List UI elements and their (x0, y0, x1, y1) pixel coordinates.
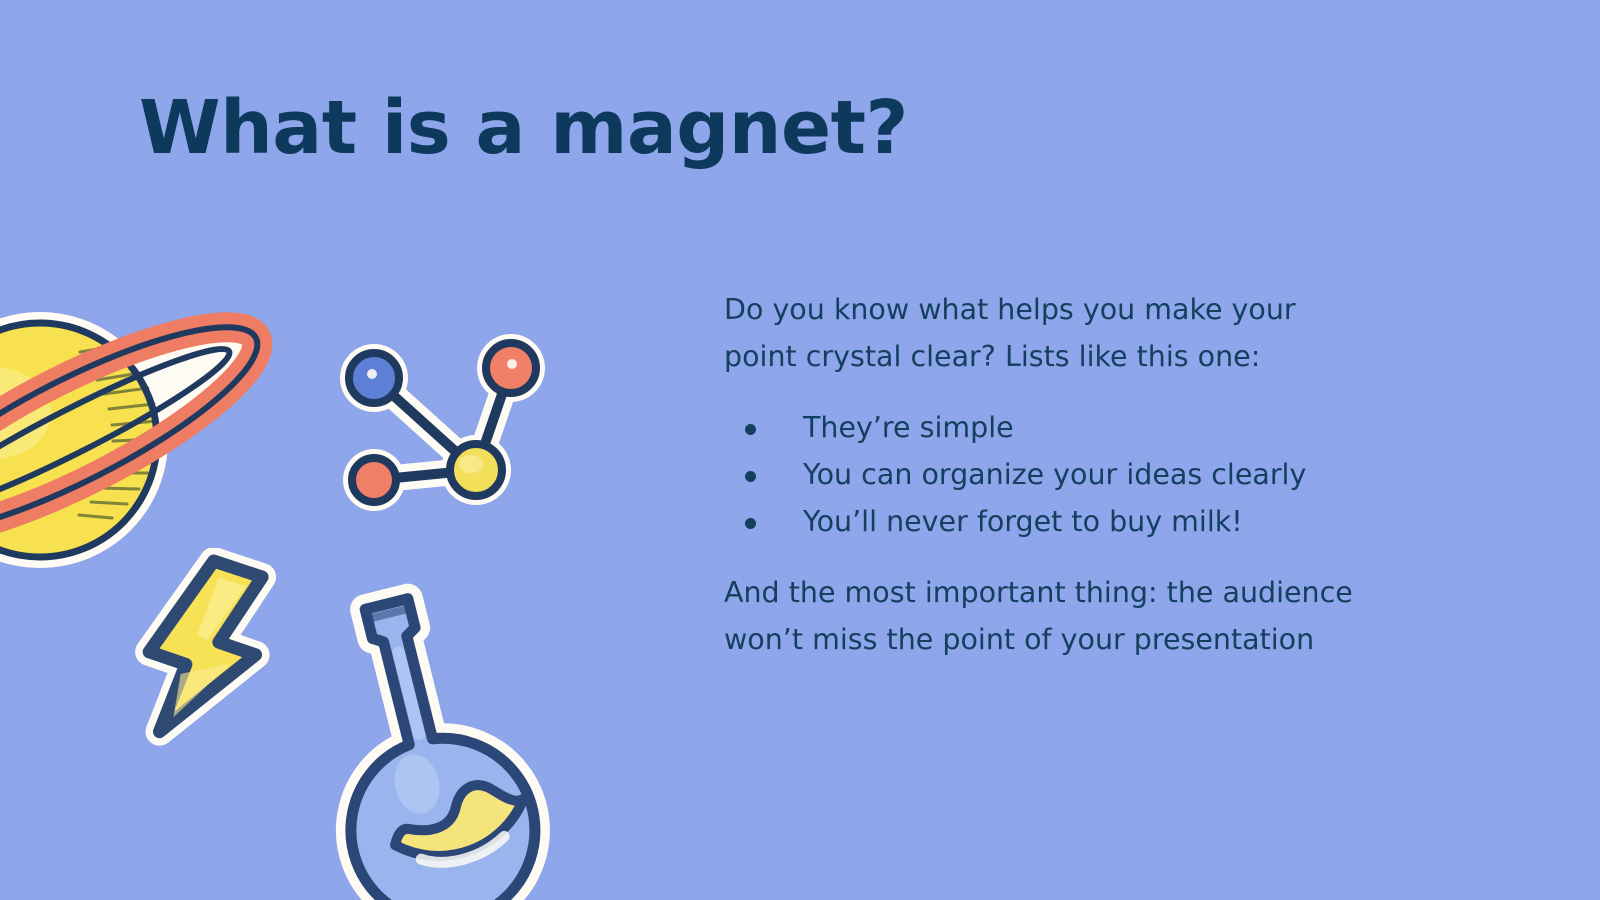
lightning-bolt-sticker (110, 548, 290, 748)
molecule-node-yellow-hub (450, 444, 502, 496)
body-text-column: Do you know what helps you make your poi… (724, 286, 1424, 663)
lead-paragraph: Do you know what helps you make your poi… (724, 286, 1369, 380)
molecule-node-blue (349, 353, 399, 403)
bullet-dot-icon (745, 518, 756, 529)
slide-canvas: What is a magnet? (0, 0, 1600, 900)
list-item: You can organize your ideas clearly (724, 451, 1424, 498)
molecule-node-coral-bottom (352, 458, 396, 502)
list-item: You’ll never forget to buy milk! (724, 498, 1424, 545)
list-item-label: You’ll never forget to buy milk! (803, 505, 1243, 538)
closing-paragraph: And the most important thing: the audien… (724, 569, 1369, 663)
list-item: They’re simple (724, 404, 1424, 451)
page-title: What is a magnet? (139, 86, 908, 170)
list-item-label: You can organize your ideas clearly (803, 458, 1306, 491)
bullet-dot-icon (745, 424, 756, 435)
saturn-planet-sticker (0, 280, 310, 580)
molecule-node-coral-top (486, 343, 536, 393)
bullet-list: They’re simple You can organize your ide… (724, 404, 1424, 545)
list-item-label: They’re simple (803, 411, 1014, 444)
bullet-dot-icon (745, 471, 756, 482)
laboratory-flask-sticker (318, 568, 568, 900)
molecule-sticker (326, 330, 556, 520)
